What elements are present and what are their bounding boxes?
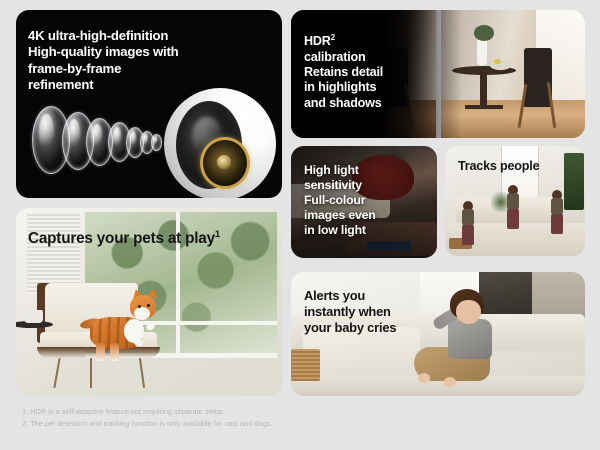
child-torso — [507, 193, 519, 210]
camera-lens-pupil — [217, 155, 231, 169]
footnotes: 1. HDR is a self-adaptive feature not re… — [22, 406, 562, 429]
cat-front-paw-raised — [145, 322, 156, 332]
card-baby-cry-alerts[interactable]: Alerts you instantly when your baby crie… — [291, 272, 585, 396]
card-hdr-headline: HDR2 calibration Retains detail in highl… — [304, 30, 424, 111]
cat-hind-leg-1 — [96, 343, 105, 361]
card-pets-headline-superscript: 1 — [215, 229, 220, 240]
card-baby-headline: Alerts you instantly when your baby crie… — [304, 288, 454, 336]
footnote-2: 2. The pet detection and tracking functi… — [22, 418, 562, 430]
cat-hind-leg-2 — [110, 343, 119, 361]
card-hdr-headline-main: HDR — [304, 34, 331, 48]
folding-chair-back — [524, 48, 551, 107]
camera-lens-ring — [200, 137, 250, 189]
ginger-cat — [90, 283, 186, 371]
card-hdr-headline-rest: calibration Retains detail in highlights… — [304, 50, 383, 110]
child-legs — [462, 225, 474, 245]
child-torso — [462, 209, 474, 226]
card-4k-headline: 4K ultra-high-definition High-quality im… — [28, 28, 268, 94]
card-4k-ultra-high-definition[interactable]: 4K ultra-high-definition High-quality im… — [16, 10, 282, 198]
child-sitting — [460, 201, 476, 247]
woven-basket — [291, 349, 320, 381]
toddler-foot-left — [418, 373, 430, 383]
card-captures-pets-at-play[interactable]: Captures your pets at play1 — [16, 208, 282, 396]
cup — [24, 310, 43, 323]
vase — [477, 39, 487, 66]
footnote-1: 1. HDR is a self-adaptive feature not re… — [22, 406, 562, 418]
table-base — [465, 105, 503, 109]
toddler-torso — [448, 319, 492, 359]
camera-front-face — [176, 101, 242, 189]
card-pets-headline-main: Captures your pets at play — [28, 230, 215, 247]
card-tracks-people-headline: Tracks people — [458, 159, 578, 174]
feature-grid-infographic: 4K ultra-high-definition High-quality im… — [0, 0, 600, 450]
card-pets-headline: Captures your pets at play1 — [28, 226, 278, 248]
child-torso — [551, 198, 563, 215]
toddler-foot-right — [444, 377, 456, 387]
plant-leaves — [474, 25, 494, 40]
fruit — [494, 59, 501, 64]
child-legs — [551, 214, 563, 234]
lens-element-7-icon — [151, 134, 162, 151]
table-stem — [480, 74, 487, 107]
security-camera-body — [164, 88, 276, 198]
child-walking-right — [549, 190, 565, 240]
hdr-pane-after — [441, 10, 586, 138]
card-tracks-people[interactable]: Tracks people — [445, 146, 585, 256]
child-walking-center — [505, 185, 521, 235]
wood-floor-lit — [441, 100, 586, 138]
card-low-light-headline: High light sensitivity Full-colour image… — [304, 163, 426, 238]
card-hdr-headline-superscript: 2 — [331, 33, 335, 42]
card-hdr-calibration[interactable]: HDR2 calibration Retains detail in highl… — [291, 10, 585, 138]
card-high-light-sensitivity[interactable]: High light sensitivity Full-colour image… — [291, 146, 437, 258]
window-blinds — [27, 212, 80, 295]
child-legs — [507, 209, 519, 229]
cat-front-paw-lower — [134, 339, 143, 346]
